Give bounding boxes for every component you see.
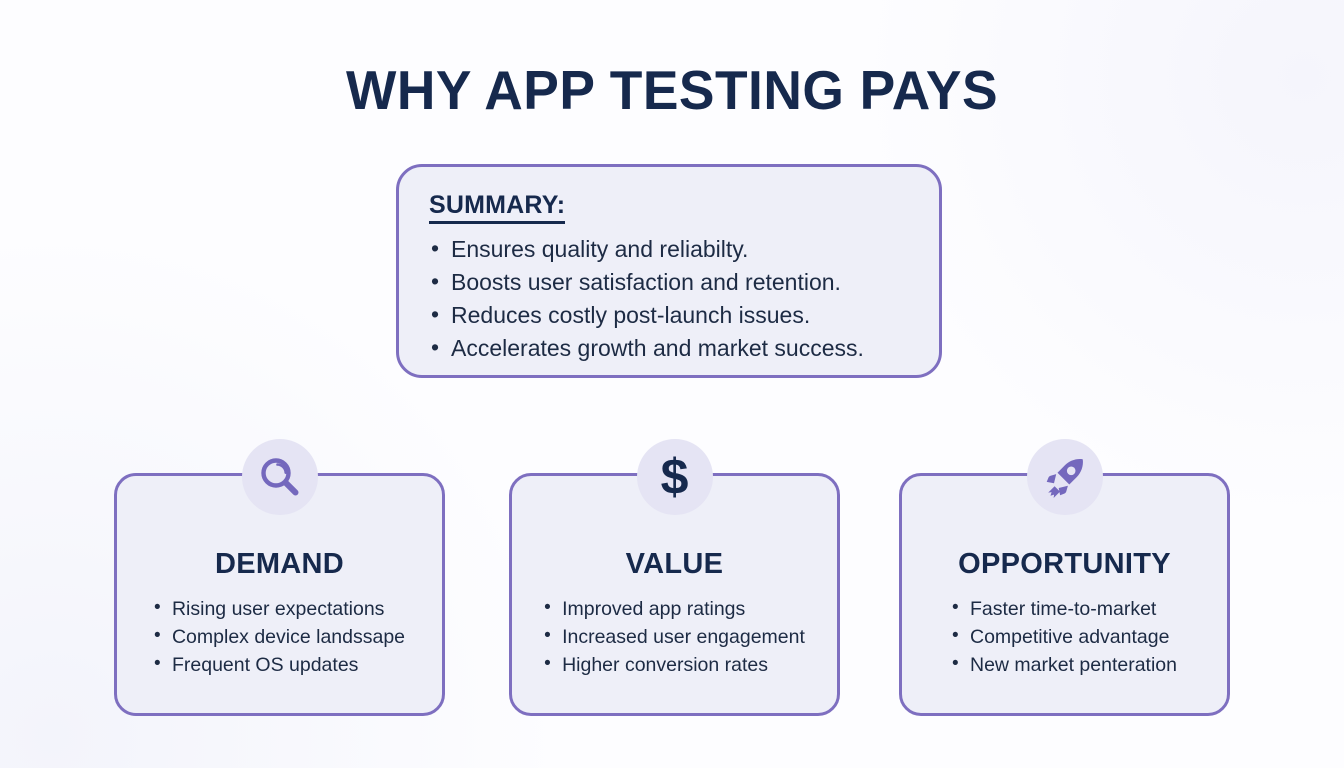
magnifier-icon xyxy=(242,439,318,515)
card-bullet: Improved app ratings xyxy=(544,595,805,623)
card-title: OPPORTUNITY xyxy=(902,548,1227,581)
feature-card-opportunity: OPPORTUNITY Faster time-to-market Compet… xyxy=(899,473,1230,716)
card-title: VALUE xyxy=(512,548,837,581)
summary-heading: SUMMARY: xyxy=(429,191,565,224)
infographic-page: WHY APP TESTING PAYS SUMMARY: Ensures qu… xyxy=(0,0,1344,768)
card-bullet: Rising user expectations xyxy=(154,595,405,623)
feature-card-value: $ VALUE Improved app ratings Increased u… xyxy=(509,473,840,716)
card-bullet: Frequent OS updates xyxy=(154,651,405,679)
summary-bullet: Ensures quality and reliabilty. xyxy=(429,233,909,266)
summary-bullet-list: Ensures quality and reliabilty. Boosts u… xyxy=(429,233,909,365)
dollar-sign-glyph: $ xyxy=(661,452,689,502)
card-bullet: Complex device landssape xyxy=(154,623,405,651)
summary-card: SUMMARY: Ensures quality and reliabilty.… xyxy=(396,164,942,378)
rocket-icon xyxy=(1027,439,1103,515)
page-title: WHY APP TESTING PAYS xyxy=(20,62,1324,120)
card-bullet: Faster time-to-market xyxy=(952,595,1177,623)
summary-bullet: Accelerates growth and market success. xyxy=(429,332,909,365)
feature-card-row: DEMAND Rising user expectations Complex … xyxy=(0,473,1344,721)
card-bullet-list: Improved app ratings Increased user enga… xyxy=(544,595,805,679)
card-bullet: Competitive advantage xyxy=(952,623,1177,651)
card-title: DEMAND xyxy=(117,548,442,581)
card-bullet: Higher conversion rates xyxy=(544,651,805,679)
card-bullet-list: Faster time-to-market Competitive advant… xyxy=(952,595,1177,679)
card-bullet: New market penteration xyxy=(952,651,1177,679)
summary-bullet: Reduces costly post-launch issues. xyxy=(429,299,909,332)
summary-bullet: Boosts user satisfaction and retention. xyxy=(429,266,909,299)
feature-card-demand: DEMAND Rising user expectations Complex … xyxy=(114,473,445,716)
card-bullet-list: Rising user expectations Complex device … xyxy=(154,595,405,679)
dollar-sign-icon: $ xyxy=(637,439,713,515)
card-bullet: Increased user engagement xyxy=(544,623,805,651)
